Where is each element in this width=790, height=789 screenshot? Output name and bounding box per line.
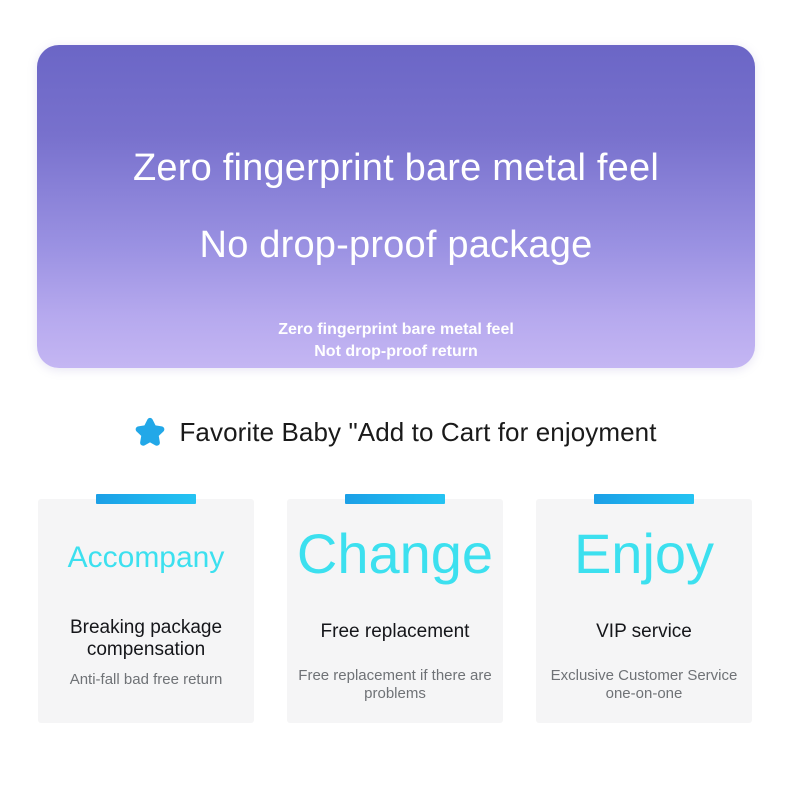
service-card-enjoy[interactable]: Enjoy VIP service Exclusive Customer Ser… — [536, 499, 752, 723]
hero-banner: Zero fingerprint bare metal feel No drop… — [37, 45, 755, 368]
card-title: Change — [287, 526, 503, 582]
card-main-text: Breaking package compensation — [44, 617, 248, 661]
favorite-prompt: Favorite Baby "Add to Cart for enjoyment — [0, 412, 790, 452]
card-accent-bar — [96, 494, 196, 504]
star-icon — [133, 415, 167, 449]
card-note-text: Free replacement if there are problems — [289, 667, 501, 703]
hero-headline-line-2: No drop-proof package — [37, 226, 755, 264]
card-note-text: Anti-fall bad free return — [40, 671, 252, 689]
card-main-text: Free replacement — [293, 621, 497, 643]
hero-headline-line-1: Zero fingerprint bare metal feel — [37, 149, 755, 187]
hero-subtext: Zero fingerprint bare metal feel Not dro… — [37, 319, 755, 363]
favorite-prompt-text: Favorite Baby "Add to Cart for enjoyment — [179, 417, 656, 448]
hero-subtext-line-2: Not drop-proof return — [37, 341, 755, 363]
service-card-change[interactable]: Change Free replacement Free replacement… — [287, 499, 503, 723]
card-note-text: Exclusive Customer Service one-on-one — [538, 667, 750, 703]
service-cards: Accompany Breaking package compensation … — [38, 499, 752, 723]
card-title: Accompany — [38, 543, 254, 573]
service-card-accompany[interactable]: Accompany Breaking package compensation … — [38, 499, 254, 723]
card-accent-bar — [345, 494, 445, 504]
card-accent-bar — [594, 494, 694, 504]
hero-subtext-line-1: Zero fingerprint bare metal feel — [37, 319, 755, 341]
card-title: Enjoy — [536, 526, 752, 582]
card-main-text: VIP service — [542, 621, 746, 643]
